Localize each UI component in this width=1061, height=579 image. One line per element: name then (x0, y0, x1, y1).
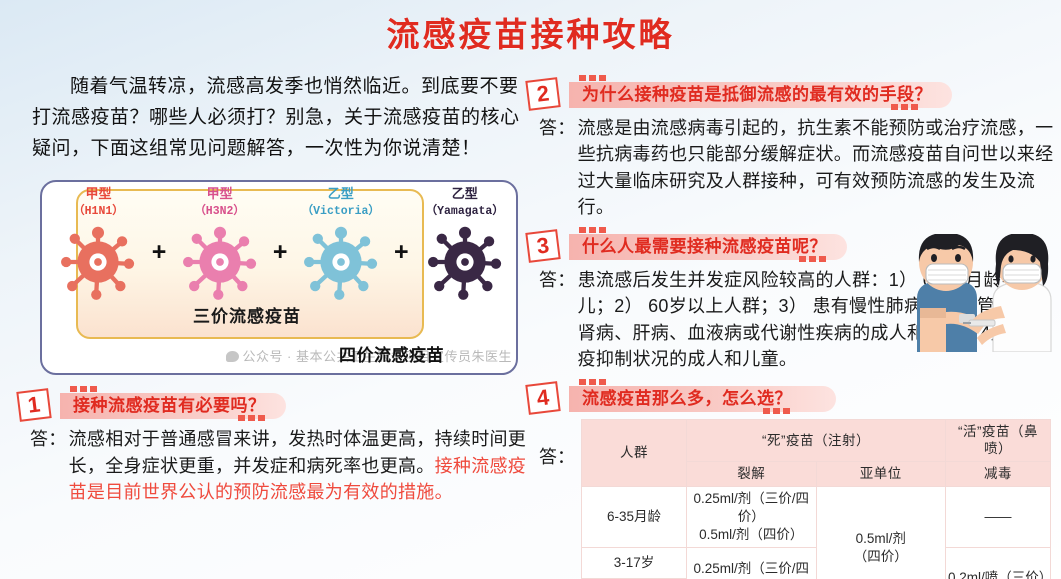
virus-strain-label: （Victoria） (302, 205, 380, 218)
virus-strain-label: （H1N1） (73, 205, 124, 218)
vaccine-composition-diagram: 甲型 （H1N1） (40, 180, 518, 375)
plus-sign-1: + (147, 186, 171, 267)
decor-dots-bottom (891, 104, 918, 110)
cell-people: 6-35月龄 (582, 487, 687, 547)
vaccination-illustration (893, 234, 1053, 352)
virus-icon (298, 219, 384, 305)
answer-label: 答： (539, 267, 578, 373)
question-number-badge: 3 (525, 229, 560, 263)
cell-subunit: 0.5ml/剂 （四价） (816, 487, 946, 579)
vaccine-selection-table: 人群 “死”疫苗（注射） “活”疫苗（鼻喷） 裂解 亚单位 减毒 6-35月龄 … (581, 419, 1051, 579)
cell-split: 0.25ml/剂（三价/四价） (687, 547, 817, 579)
question-number-badge: 2 (525, 77, 560, 111)
answer-label: 答： (539, 419, 581, 579)
question-header-2: 2 为什么接种疫苗是抵御流感的最有效的手段？ (527, 78, 1055, 112)
virus-icon (55, 219, 141, 305)
virus-icon (422, 219, 508, 305)
answer-text: 流感是由流感病毒引起的，抗生素不能预防或治疗流感，一些抗病毒药也只能部分缓解症状… (578, 115, 1055, 221)
plus-sign-3: + (389, 186, 413, 267)
question-block-3: 3 什么人最需要接种流感疫苗呢？ 答： 患流感后发生并发症风险较高的人群：1） … (527, 230, 1055, 373)
th-people: 人群 (582, 419, 687, 487)
decor-dots-bottom (763, 408, 790, 414)
cell-attenuated: —— (946, 487, 1051, 547)
virus-type-label: 甲型 (207, 186, 233, 201)
th-live-vaccine: “活”疫苗（鼻喷） (946, 419, 1051, 462)
virus-h1n1: 甲型 （H1N1） (50, 186, 147, 305)
page-title: 流感疫苗接种攻略 (0, 0, 1061, 51)
virus-yamagata: 乙型 （Yamagata） (413, 186, 516, 305)
question-block-2: 2 为什么接种疫苗是抵御流感的最有效的手段？ 答： 流感是由流感病毒引起的，抗生… (527, 78, 1055, 221)
decor-dots-bottom (238, 415, 265, 421)
wechat-logo-icon (226, 351, 239, 362)
question-banner: 流感疫苗那么多，怎么选？ (569, 386, 836, 412)
virus-strain-label: （H3N2） (194, 205, 245, 218)
cell-people: 3-17岁 (582, 547, 687, 578)
question-header-4: 4 流感疫苗那么多，怎么选？ (527, 382, 1055, 416)
th-split: 裂解 (687, 462, 817, 487)
th-dead-vaccine: “死”疫苗（注射） (687, 419, 946, 462)
table-row: 6-35月龄 0.25ml/剂（三价/四价） 0.5ml/剂（四价） 0.5ml… (582, 487, 1051, 547)
decor-dots-top (579, 379, 606, 385)
question-number-badge: 4 (525, 381, 560, 415)
right-column: 2 为什么接种疫苗是抵御流感的最有效的手段？ 答： 流感是由流感病毒引起的，抗生… (527, 78, 1055, 579)
table-body: 6-35月龄 0.25ml/剂（三价/四价） 0.5ml/剂（四价） 0.5ml… (582, 487, 1051, 579)
intro-paragraph: 随着气温转凉，流感高发季也悄然临近。到底要不要打流感疫苗？哪些人必须打？别急，关… (18, 72, 530, 164)
table-head: 人群 “死”疫苗（注射） “活”疫苗（鼻喷） 裂解 亚单位 减毒 (582, 419, 1051, 487)
quadrivalent-label: 四价流感疫苗 (339, 341, 444, 366)
answer-body-1: 答： 流感相对于普通感冒来讲，发热时体温更高，持续时间更长，全身症状更重，并发症… (18, 426, 530, 505)
th-subunit: 亚单位 (816, 462, 946, 487)
plus-sign-2: + (268, 186, 292, 267)
virus-type-label: 甲型 (85, 186, 111, 201)
table-header-row-1: 人群 “死”疫苗（注射） “活”疫苗（鼻喷） (582, 419, 1051, 462)
decor-dots-top (579, 75, 606, 81)
question-block-4: 4 流感疫苗那么多，怎么选？ 答： 人群 “死”疫苗（注射） “活”疫苗（鼻喷）… (527, 382, 1055, 579)
answer-text: 流感相对于普通感冒来讲，发热时体温更高，持续时间更长，全身症状更重，并发症和病死… (69, 426, 530, 505)
virus-type-label: 乙型 (328, 186, 354, 201)
virus-type-label: 乙型 (452, 186, 478, 201)
decor-dots-top (70, 386, 97, 392)
vaccine-selection-table-area: 答： 人群 “死”疫苗（注射） “活”疫苗（鼻喷） 裂解 亚单位 减毒 (527, 419, 1055, 579)
answer-body-2: 答： 流感是由流感病毒引起的，抗生素不能预防或治疗流感，一些抗病毒药也只能部分缓… (527, 115, 1055, 221)
trivalent-label: 三价流感疫苗 (70, 302, 424, 327)
virus-row: 甲型 （H1N1） (50, 186, 516, 314)
question-header-1: 1 接种流感疫苗有必要吗？ (18, 389, 530, 423)
answer-label: 答： (30, 426, 69, 505)
virus-icon (177, 219, 263, 305)
answer-label: 答： (539, 115, 578, 221)
cell-split: 0.25ml/剂（三价/四价） 0.5ml/剂（四价） (687, 487, 817, 547)
virus-victoria: 乙型 （Victoria） (292, 186, 389, 305)
decor-dots-top (579, 227, 606, 233)
question-block-1: 1 接种流感疫苗有必要吗？ 答： 流感相对于普通感冒来讲，发热时体温更高，持续时… (18, 389, 530, 505)
virus-strain-label: （Yamagata） (426, 205, 504, 218)
left-column: 随着气温转凉，流感高发季也悄然临近。到底要不要打流感疫苗？哪些人必须打？别急，关… (18, 72, 530, 515)
decor-dots-bottom (799, 256, 826, 262)
th-attenuated: 减毒 (946, 462, 1051, 487)
virus-h3n2: 甲型 （H3N2） (171, 186, 268, 305)
question-number-badge: 1 (16, 388, 51, 422)
cell-attenuated: 0.2ml/喷（三价） (946, 547, 1051, 579)
